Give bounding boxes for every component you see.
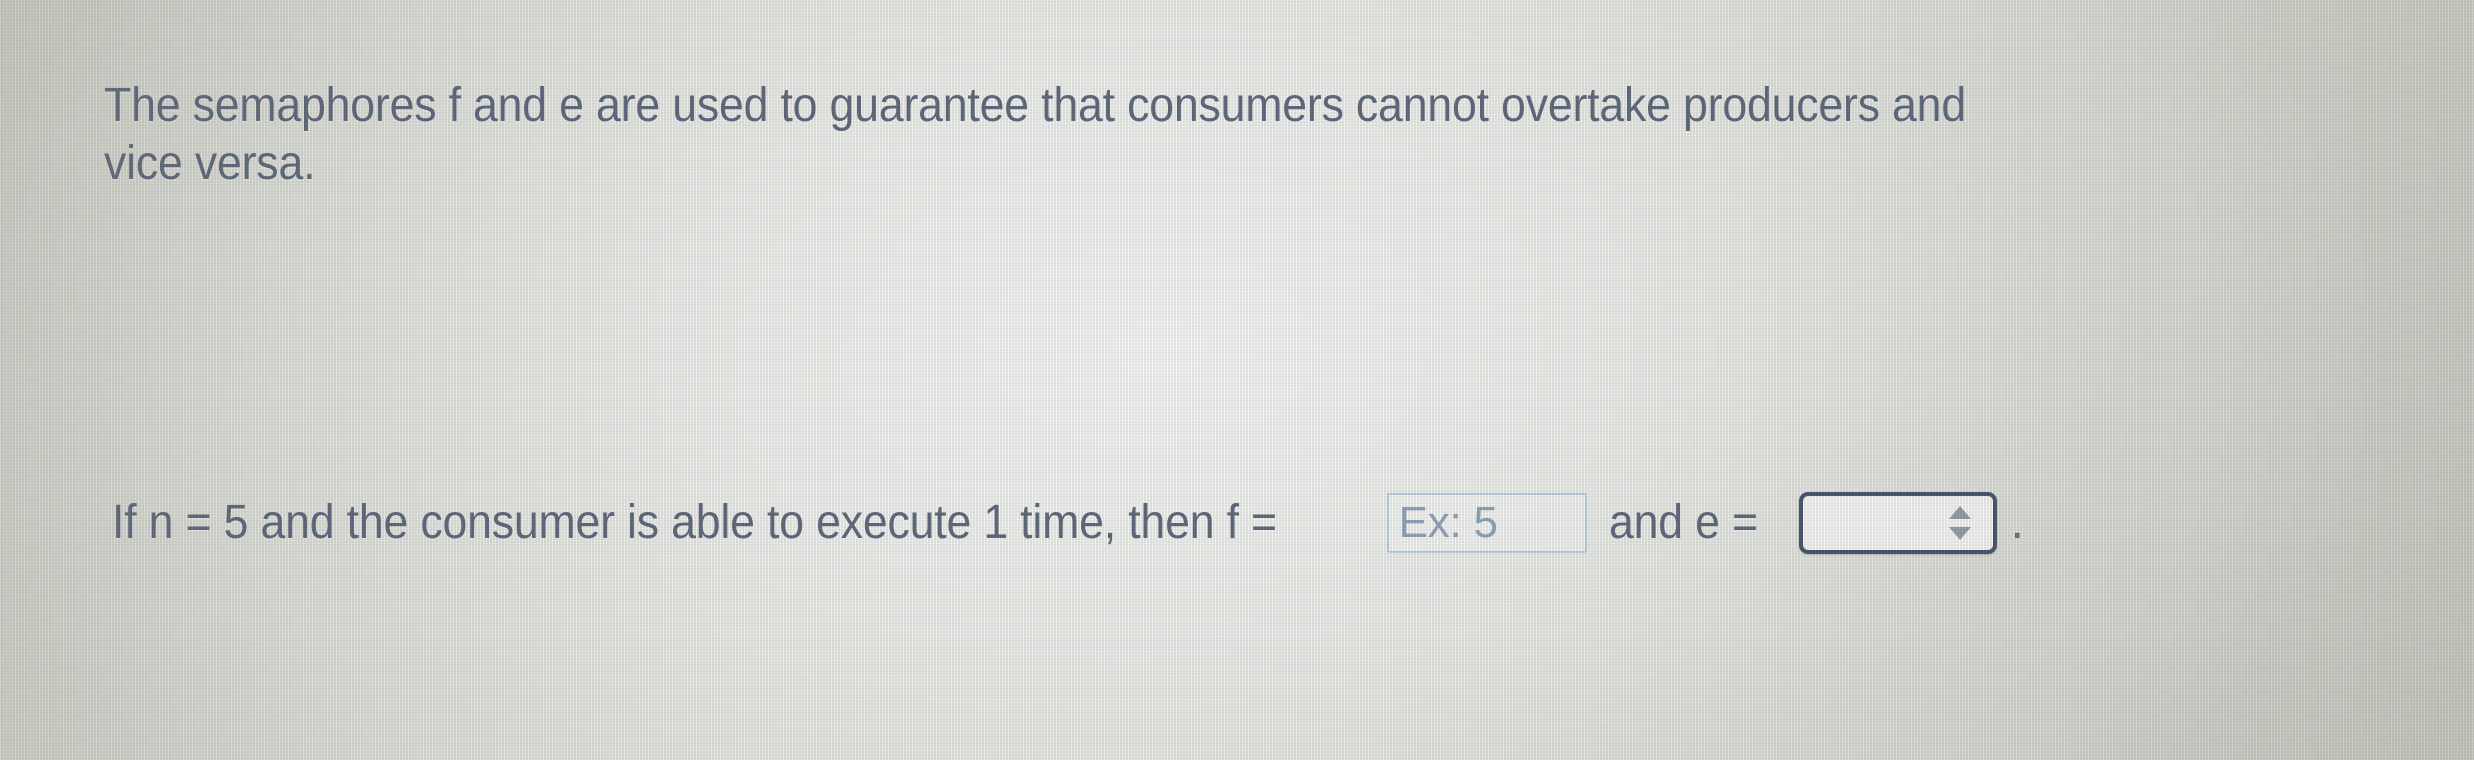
triangle-up-icon[interactable]: [1949, 506, 1971, 519]
spinner-controls[interactable]: [1949, 506, 1971, 540]
screen-photo-surface: The semaphores f and e are used to guara…: [0, 0, 2474, 760]
f-answer-input[interactable]: [1387, 493, 1587, 553]
e-answer-input[interactable]: [1803, 496, 1945, 550]
answer-trailing-punctuation: .: [2011, 492, 2024, 554]
question-content: The semaphores f and e are used to guara…: [0, 0, 2474, 760]
answer-line: If n = 5 and the consumer is able to exe…: [112, 492, 2024, 554]
e-answer-spinner[interactable]: [1799, 492, 1997, 554]
question-statement-line-1: The semaphores f and e are used to guara…: [104, 78, 1966, 133]
triangle-down-icon[interactable]: [1949, 527, 1971, 540]
answer-prompt-prefix: If n = 5 and the consumer is able to exe…: [112, 492, 1277, 554]
answer-prompt-middle: and e =: [1609, 492, 1758, 554]
question-statement-line-2: vice versa.: [104, 136, 315, 191]
